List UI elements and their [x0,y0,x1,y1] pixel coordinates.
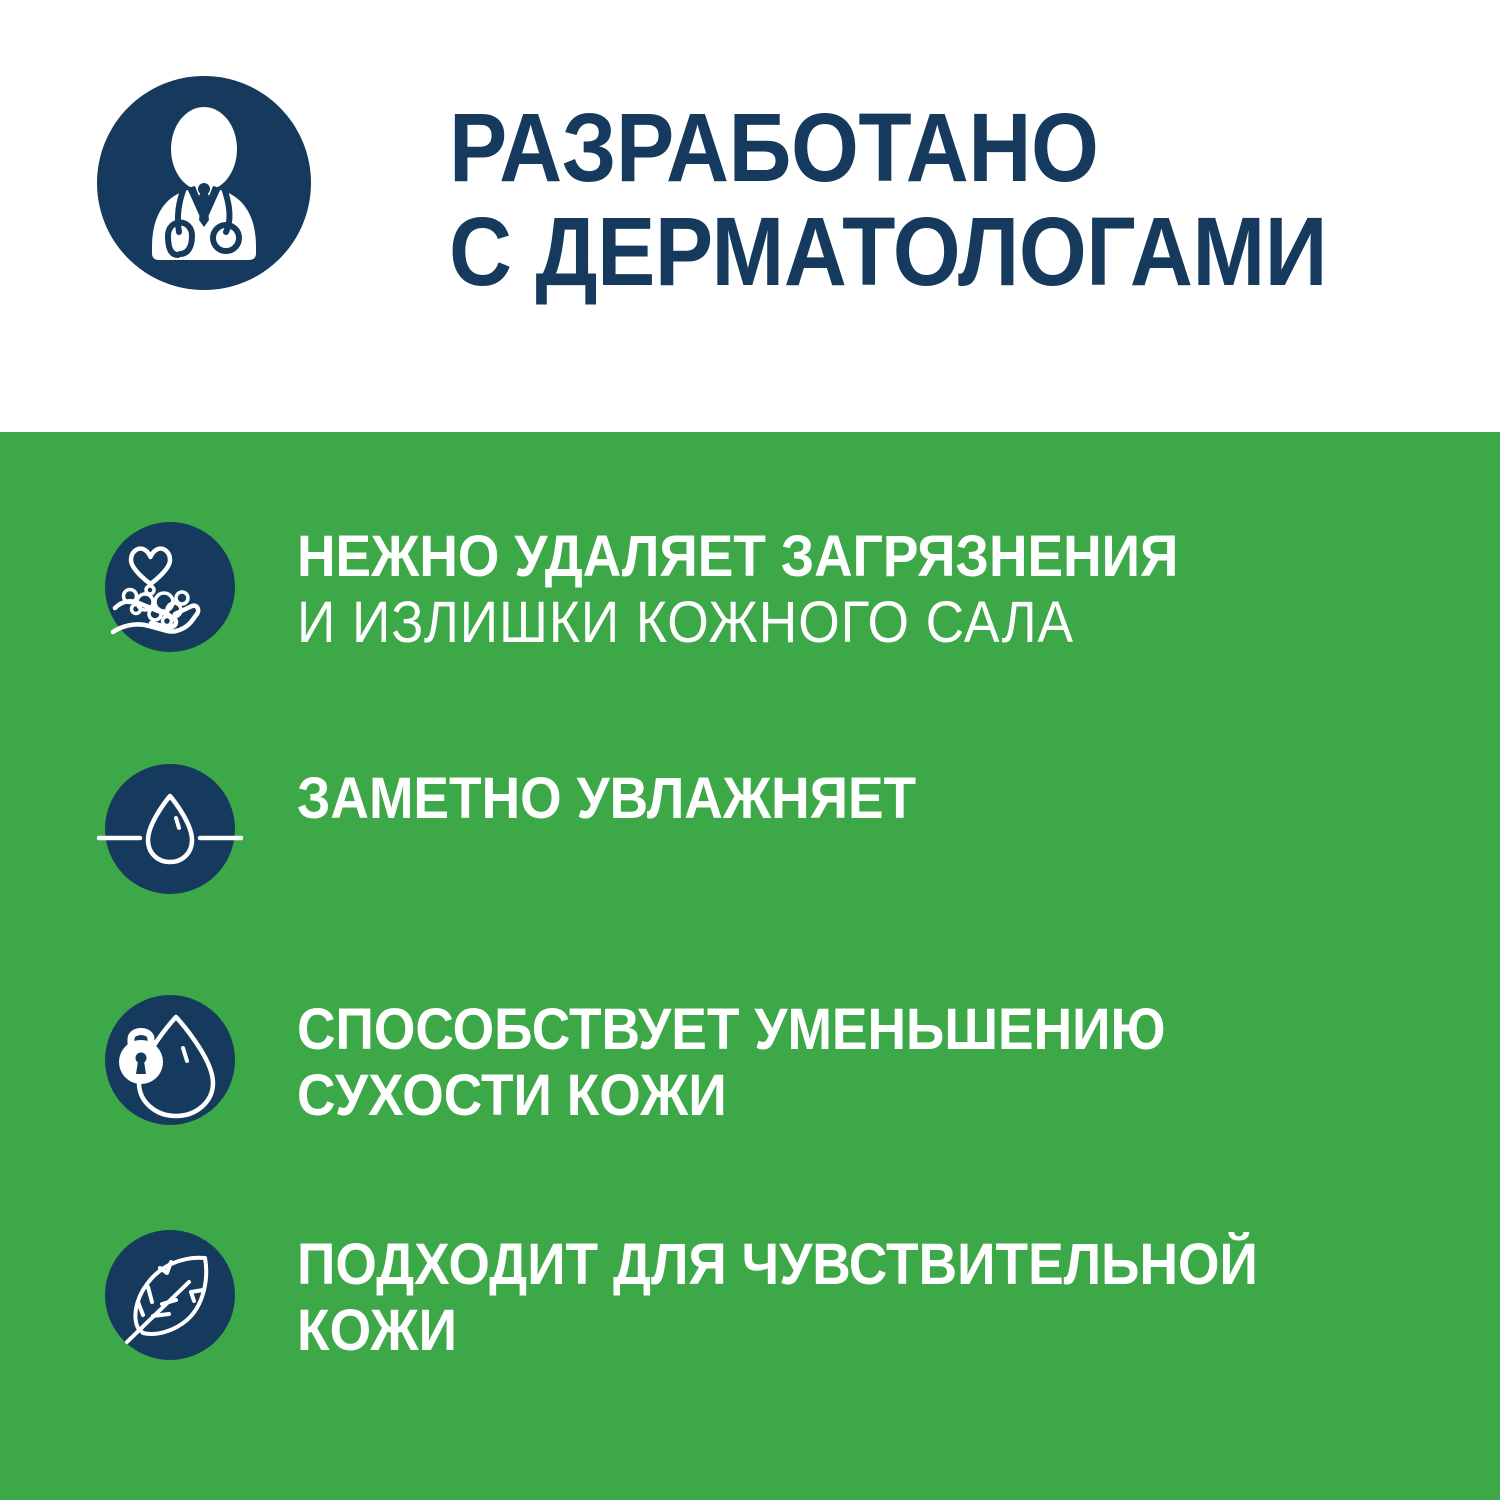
feature-text: СПОСОБСТВУЕТ УМЕНЬШЕНИЮ СУХОСТИ КОЖИ [297,995,1500,1129]
feature-line-secondary: СУХОСТИ КОЖИ [297,1063,1404,1129]
doctor-stethoscope-icon [97,76,311,290]
feature-line-primary: НЕЖНО УДАЛЯЕТ ЗАГРЯЗНЕНИЯ [297,524,1404,590]
feature-row: ЗАМЕТНО УВЛАЖНЯЕТ [0,764,1500,894]
water-drop-lines-icon [105,764,235,894]
water-drop-lock-icon [105,995,235,1125]
feature-text: НЕЖНО УДАЛЯЕТ ЗАГРЯЗНЕНИЯ И ИЗЛИШКИ КОЖН… [297,522,1500,656]
feature-line-secondary: КОЖИ [297,1298,1404,1364]
feature-line-primary: ЗАМЕТНО УВЛАЖНЯЕТ [297,766,1404,832]
page-title-line-1: РАЗРАБОТАНО [449,96,1331,200]
feature-row: НЕЖНО УДАЛЯЕТ ЗАГРЯЗНЕНИЯ И ИЗЛИШКИ КОЖН… [0,522,1500,656]
feature-text: ПОДХОДИТ ДЛЯ ЧУВСТВИТЕЛЬНОЙ КОЖИ [297,1230,1500,1364]
feature-row: СПОСОБСТВУЕТ УМЕНЬШЕНИЮ СУХОСТИ КОЖИ [0,995,1500,1129]
page-title: РАЗРАБОТАНО С ДЕРМАТОЛОГАМИ [449,96,1429,304]
feature-text: ЗАМЕТНО УВЛАЖНЯЕТ [297,764,1500,832]
header-band: РАЗРАБОТАНО С ДЕРМАТОЛОГАМИ [0,0,1500,432]
feature-line-primary: СПОСОБСТВУЕТ УМЕНЬШЕНИЮ [297,997,1404,1063]
feature-line-secondary: И ИЗЛИШКИ КОЖНОГО САЛА [297,590,1404,656]
feature-line-primary: ПОДХОДИТ ДЛЯ ЧУВСТВИТЕЛЬНОЙ [297,1232,1404,1298]
page-title-line-2: С ДЕРМАТОЛОГАМИ [449,200,1331,304]
hand-bubbles-heart-icon [105,522,235,652]
feature-row: ПОДХОДИТ ДЛЯ ЧУВСТВИТЕЛЬНОЙ КОЖИ [0,1230,1500,1364]
feather-icon [105,1230,235,1360]
features-panel: НЕЖНО УДАЛЯЕТ ЗАГРЯЗНЕНИЯ И ИЗЛИШКИ КОЖН… [0,432,1500,1500]
